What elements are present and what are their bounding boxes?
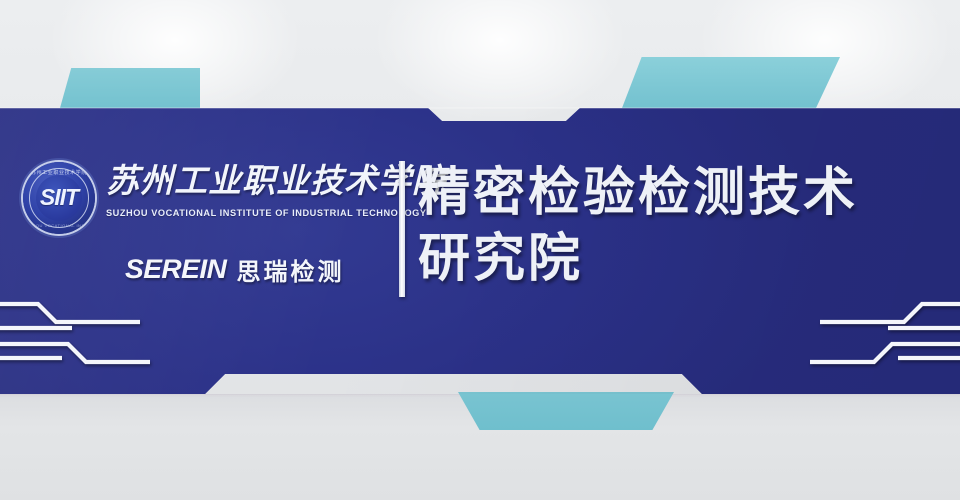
headline-title: 精密检验检测技术 研究院 — [418, 160, 948, 292]
panel-top-edge-highlight — [0, 107, 960, 109]
teal-trapezoid-top-right — [622, 57, 840, 108]
institute-chinese-name: 苏州工业职业技术学院 — [106, 160, 396, 202]
serein-latin-wordmark: SEREIN — [125, 254, 226, 285]
institute-logo-lockup: 苏州工业职业技术学院 SIIT SUZHOU VOCATIONAL INSTIT… — [20, 160, 390, 295]
headline-line-2: 研究院 — [418, 226, 948, 292]
suzhou-institute-emblem-icon: 苏州工业职业技术学院 SIIT SUZHOU VOCATIONAL INSTIT… — [23, 162, 95, 234]
headline-line-1: 精密检验检测技术 — [418, 160, 948, 226]
emblem-arc-bottom-text: SUZHOU VOCATIONAL INSTITUTE — [23, 223, 95, 228]
vertical-divider-bar — [399, 161, 405, 297]
circuit-trace-lines-left — [0, 296, 230, 376]
circuit-trace-lines-right — [730, 296, 960, 376]
signage-scene: 苏州工业职业技术学院 SIIT SUZHOU VOCATIONAL INSTIT… — [0, 0, 960, 500]
serein-chinese-wordmark: 思瑞检测 — [237, 252, 345, 287]
institute-english-name: SUZHOU VOCATIONAL INSTITUTE OF INDUSTRIA… — [106, 208, 406, 218]
teal-trapezoid-top-left — [60, 68, 200, 108]
emblem-monogram: SIIT — [23, 184, 95, 211]
teal-trapezoid-bottom-center — [458, 392, 674, 430]
partner-logo-lockup: SEREIN 思瑞检测 — [125, 252, 395, 286]
emblem-arc-top-text: 苏州工业职业技术学院 — [23, 169, 95, 176]
